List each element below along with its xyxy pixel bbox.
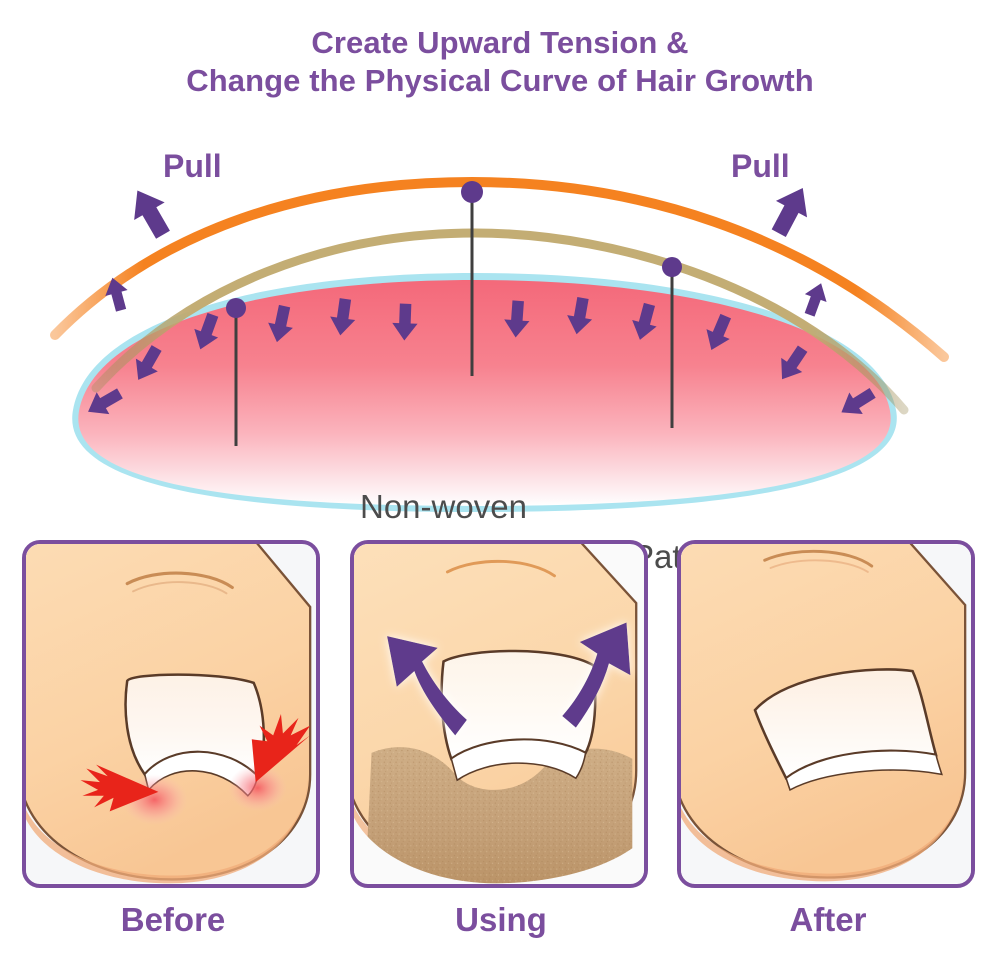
diagram-svg <box>0 110 1000 520</box>
title-line-2: Change the Physical Curve of Hair Growth <box>0 62 1000 100</box>
pull-arrow-right-large <box>763 180 818 242</box>
pull-arrow-left-large <box>122 182 178 244</box>
using-illustration <box>354 544 644 884</box>
pull-arrow-right-small <box>799 279 832 318</box>
panel-after-caption: After <box>677 901 979 939</box>
comparison-panels: Before <box>0 540 1000 975</box>
before-illustration <box>26 544 316 884</box>
page-title: Create Upward Tension & Change the Physi… <box>0 24 1000 100</box>
leader-dot-nonwoven <box>461 181 483 203</box>
leader-dot-patch <box>662 257 682 277</box>
panel-using-frame[interactable] <box>350 540 648 888</box>
title-line-1: Create Upward Tension & <box>0 24 1000 62</box>
cross-section-diagram: Pull Pull Nail Non-woven Patch <box>0 110 1000 520</box>
panel-before-caption: Before <box>22 901 324 939</box>
panel-using[interactable]: Using <box>350 540 652 939</box>
panel-before[interactable]: Before <box>22 540 324 939</box>
pull-label-right: Pull <box>731 148 790 185</box>
panel-after[interactable]: After <box>677 540 979 939</box>
diagram-label-nonwoven: Non-woven <box>360 488 527 526</box>
after-illustration <box>681 544 971 884</box>
pull-label-left: Pull <box>163 148 222 185</box>
panel-before-frame[interactable] <box>22 540 320 888</box>
panel-after-frame[interactable] <box>677 540 975 888</box>
panel-using-caption: Using <box>350 901 652 939</box>
leader-dot-nail <box>226 298 246 318</box>
